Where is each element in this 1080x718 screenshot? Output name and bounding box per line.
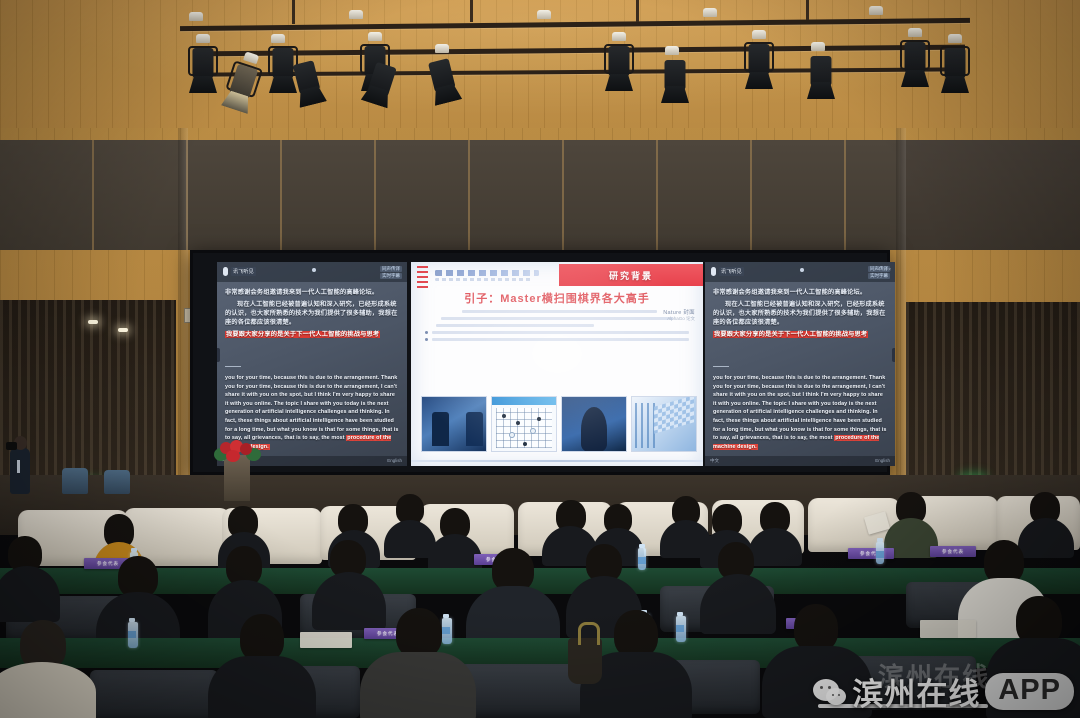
left-screen-status-dot [312, 268, 316, 272]
alcove-right-curtain [906, 302, 1080, 480]
stage-light-b13 [744, 30, 774, 92]
stage-light-b16 [900, 28, 930, 90]
left-screen-badge-0: 同声传译 [380, 266, 402, 272]
slide-image-strip [421, 396, 697, 452]
stage-light-a1 [186, 12, 206, 24]
name-placard: 参会代表 [930, 546, 976, 557]
stage-light-b17 [940, 34, 970, 96]
left-screen-side-tab[interactable] [217, 348, 220, 362]
stage-light-b9 [432, 44, 452, 58]
alcove-right [906, 302, 1080, 480]
university-logo [435, 266, 553, 284]
stage-light-a4 [700, 8, 720, 20]
slide-text-line [462, 310, 657, 313]
slide-image-go-match-photo [421, 396, 487, 452]
right-screen-status-dot [800, 268, 804, 272]
right-screen-chinese-block: 非常感谢会务组邀请我来到一代人工智能的高峰论坛。 现在人工智能已经被普遍认知和深… [713, 288, 887, 342]
slide-bullet-item [425, 331, 689, 334]
handout-paper[interactable] [920, 620, 976, 638]
left-screen-badges: 同声传译 实时字幕 [380, 266, 402, 280]
right-screen-english-block: you for your time, because this is due t… [713, 374, 887, 451]
left-cn-highlight: 我要跟大家分享的是关于下一代人工智能的挑战与思考 [225, 331, 380, 338]
stage-light-b11 [660, 60, 690, 108]
wall-column-right [896, 128, 906, 500]
go-diagram-header [492, 397, 556, 405]
right-screen-logo-label: 讯飞听见 [719, 267, 744, 276]
water-bottle[interactable] [876, 542, 884, 564]
left-screen-logo: 讯飞听见 [223, 267, 256, 276]
name-placard-label: 参会代表 [942, 549, 964, 555]
slide-body-text [425, 310, 689, 360]
attendee-torso [0, 662, 96, 718]
bullet-dot-icon [425, 338, 428, 341]
handout-paper[interactable] [300, 632, 352, 648]
center-presentation-slide[interactable]: 研究背景 引子：Master横扫围棋界各大高手 [411, 262, 703, 466]
slide-bullet-item [425, 338, 689, 341]
attendee-torso [360, 652, 476, 718]
water-bottle[interactable] [676, 616, 686, 642]
stage-light-b14 [806, 56, 836, 106]
right-screen-footer-right: English [875, 458, 890, 463]
chess-board-checks [654, 396, 694, 434]
slide-rib-marks [417, 266, 428, 288]
right-screen-logo: 讯飞听见 [711, 267, 744, 276]
left-screen-logo-label: 讯飞听见 [231, 267, 256, 276]
left-en-body: you for your time, because this is due t… [225, 375, 399, 441]
microphone-icon [711, 267, 716, 276]
slide-text-line [436, 324, 594, 327]
slide-image-player-portrait [561, 396, 627, 452]
right-cn-line-0: 非常感谢会务组邀请我来到一代人工智能的高峰论坛。 [713, 288, 887, 297]
stage-light-b15 [808, 42, 828, 56]
right-en-text: you for your time, because this is due t… [713, 374, 887, 451]
handbag-strap [578, 622, 600, 645]
right-screen-side-tab[interactable] [892, 348, 895, 362]
right-screen-divider [713, 366, 729, 367]
photo-scene: 讯飞听见 同声传译 实时字幕 非常感谢会务组邀请我来到一代人工智能的高峰论坛。 … [0, 0, 1080, 718]
slide-image-go-board-diagram [491, 396, 557, 452]
right-screen-footer-left: 中文 [710, 458, 719, 464]
slide-topbar: 研究背景 [411, 262, 703, 288]
audience-chair-back[interactable] [90, 670, 218, 718]
left-transcript-screen[interactable]: 讯飞听见 同声传译 实时字幕 非常感谢会务组邀请我来到一代人工智能的高峰论坛。 … [217, 262, 407, 466]
slide-text-line [441, 317, 673, 320]
slide-nature-annotation: Nature 封面 AlphaGo 论文 [663, 310, 695, 322]
water-bottle[interactable] [442, 618, 452, 644]
left-cn-line-1: 现在人工智能已经被普遍认知和深入研究，已经形成系统的认识，也大家所熟悉的技术为我… [225, 300, 399, 327]
right-screen-badge-1: 实时字幕 [868, 273, 890, 279]
bullet-dot-icon [425, 331, 428, 334]
acoustic-panel-right [900, 140, 1080, 250]
university-logo-line-en [435, 278, 531, 281]
name-placard: 参会代表 [848, 548, 894, 559]
left-cn-line-2: 我要跟大家分享的是关于下一代人工智能的挑战与思考 [225, 330, 399, 339]
attendee-head [614, 610, 658, 658]
left-screen-chinese-block: 非常感谢会务组邀请我来到一代人工智能的高峰论坛。 现在人工智能已经被普遍认知和深… [225, 288, 399, 342]
university-logo-line-cn [435, 270, 539, 276]
microphone-icon [223, 267, 228, 276]
water-bottle[interactable] [638, 548, 646, 570]
stage-light-b1 [188, 34, 218, 96]
attendee-torso [208, 656, 316, 718]
watermark-brand: 滨州在线 [852, 669, 980, 714]
attendee-head [396, 608, 442, 658]
left-screen-divider [225, 366, 241, 367]
flower-arrangement [212, 440, 264, 466]
nature-sublabel: AlphaGo 论文 [663, 316, 695, 322]
alcove-downlight-2 [118, 328, 128, 332]
alcove-downlight-1 [88, 320, 98, 324]
truss-hanger-1 [292, 0, 295, 24]
camera-icon [6, 442, 17, 450]
wechat-icon [813, 677, 847, 707]
right-en-body: you for your time, because this is due t… [713, 375, 887, 441]
slide-surface: 研究背景 引子：Master横扫围棋界各大高手 [411, 262, 703, 466]
stage-light-b10 [604, 32, 634, 94]
stage-light-a2 [346, 10, 366, 22]
slide-banner-label: 研究背景 [609, 269, 653, 282]
water-bottle[interactable] [128, 622, 138, 648]
watermark-app-badge: APP [985, 673, 1074, 710]
right-cn-highlight: 我要跟大家分享的是关于下一代人工智能的挑战与思考 [713, 331, 868, 338]
left-screen-badge-1: 实时字幕 [380, 273, 402, 279]
right-transcript-screen[interactable]: 讯飞听见 同声传译 实时字幕 — □ × 非常感谢会务组邀请我来到一代人工智能的… [705, 262, 895, 466]
left-screen-footer-right: English [387, 458, 402, 463]
right-screen-window-controls[interactable]: — □ × [877, 267, 891, 273]
slide-footer-line [411, 460, 703, 462]
stage-light-a3 [534, 10, 554, 22]
right-cn-line-1: 现在人工智能已经被普遍认知和深入研究，已经形成系统的认识，也大家所熟悉的技术为我… [713, 300, 887, 327]
right-screen-footer: 中文 English [705, 456, 895, 466]
slide-section-banner: 研究背景 [559, 264, 703, 286]
stage-light-b12 [662, 46, 682, 60]
right-cn-line-2: 我要跟大家分享的是关于下一代人工智能的挑战与思考 [713, 330, 887, 339]
watermark: 滨州在线 APP [813, 669, 1074, 714]
truss-hanger-3 [636, 0, 639, 22]
stage-light-a5 [866, 6, 886, 18]
wechat-bubble-small [826, 688, 846, 705]
attendee-head [240, 614, 284, 662]
stage-screen-wall: 讯飞听见 同声传译 实时字幕 非常感谢会务组邀请我来到一代人工智能的高峰论坛。 … [190, 250, 890, 475]
truss-hanger-2 [470, 0, 473, 22]
name-placard-label: 参会代表 [97, 561, 119, 567]
truss-hanger-4 [806, 0, 809, 20]
attendee-head [794, 604, 838, 652]
go-diagram-grid [496, 408, 552, 448]
slide-title: 引子：Master横扫围棋界各大高手 [411, 290, 703, 306]
slide-image-chess-illustration [631, 396, 697, 452]
left-cn-line-0: 非常感谢会务组邀请我来到一代人工智能的高峰论坛。 [225, 288, 399, 297]
